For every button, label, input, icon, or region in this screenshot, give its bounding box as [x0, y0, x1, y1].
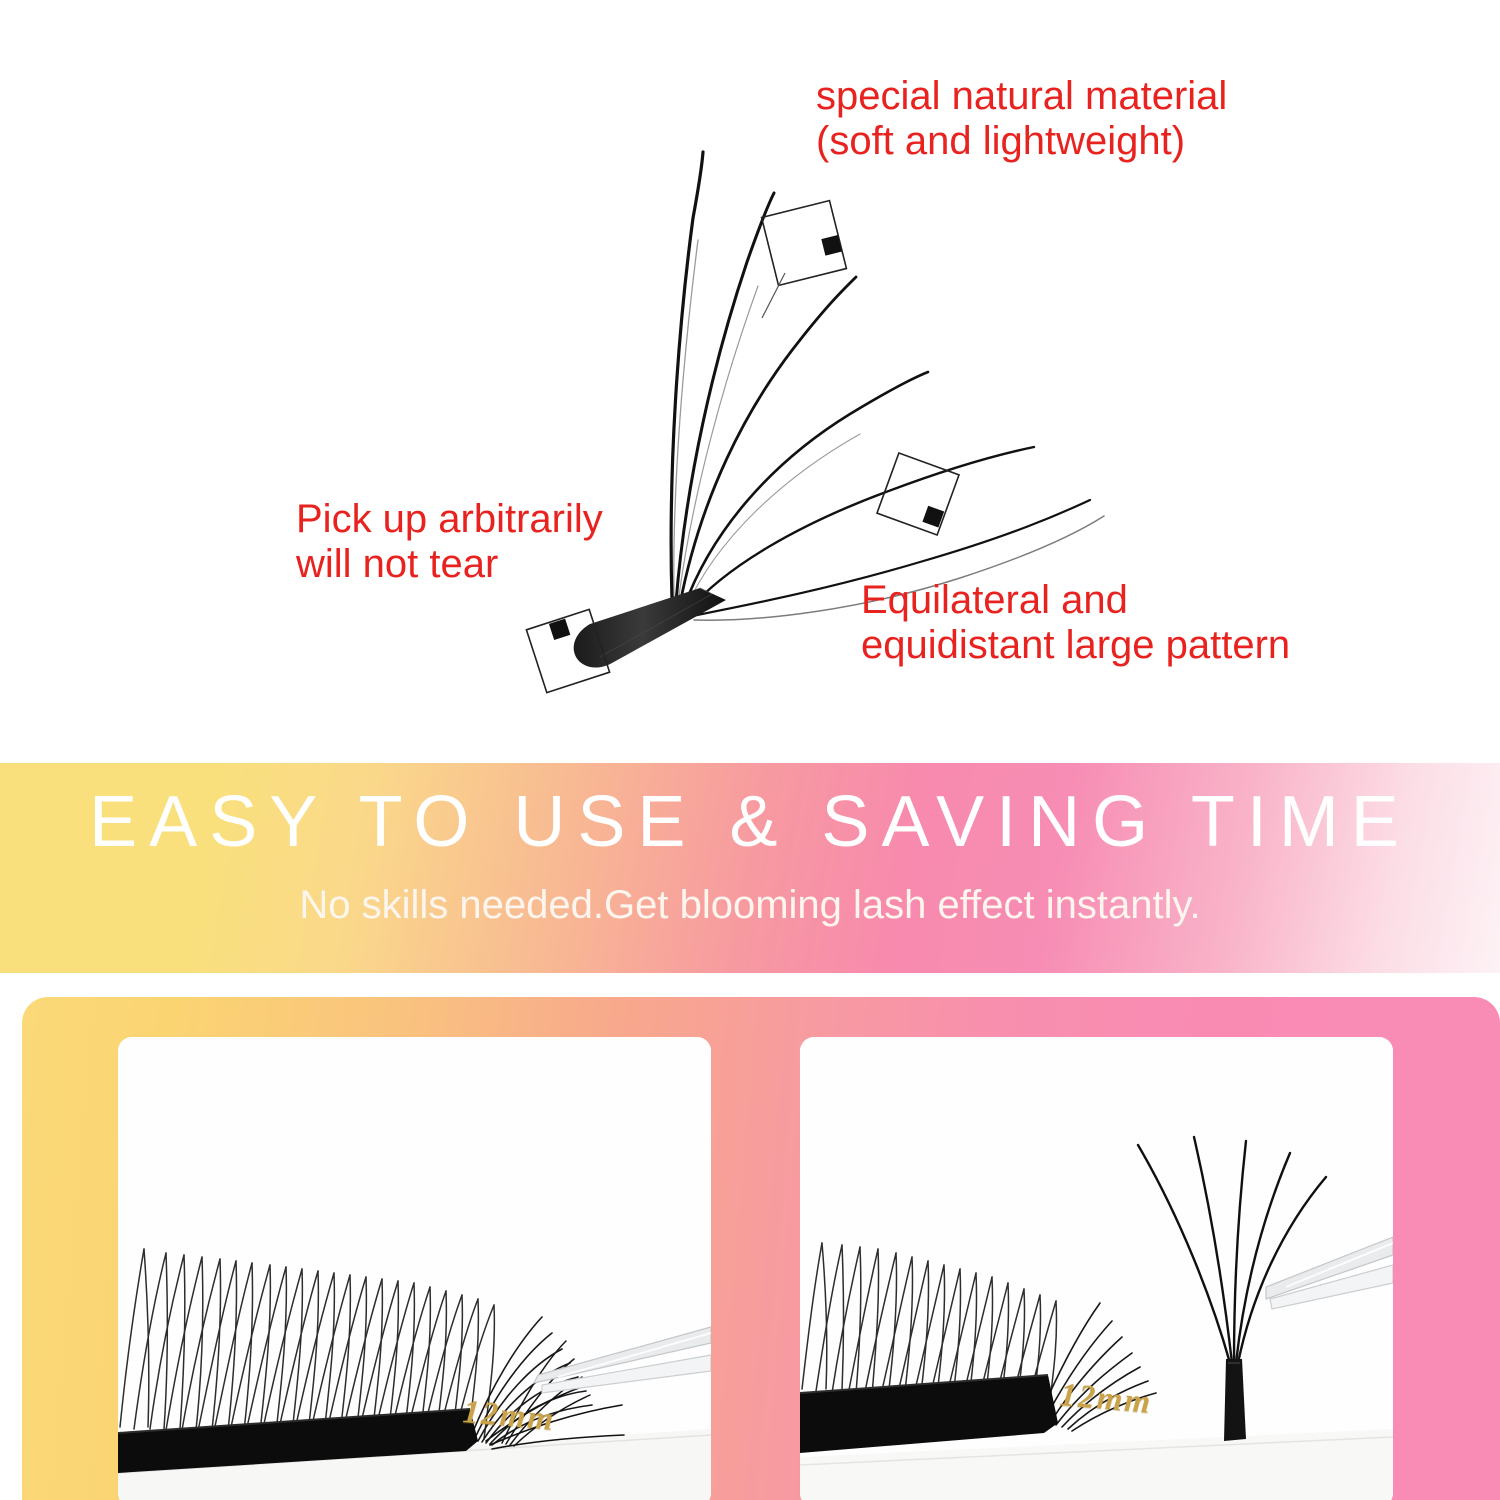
- callout-pick-up-arbitrarily: Pick up arbitrarily will not tear: [296, 497, 603, 587]
- diagram-section: special natural material (soft and light…: [0, 0, 1500, 763]
- lash-base-bar: [574, 588, 726, 668]
- lash-strands: [671, 152, 1104, 620]
- photo-card-left: 12mm: [118, 1037, 711, 1500]
- banner-subtitle: No skills needed.Get blooming lash effec…: [0, 883, 1500, 928]
- photo-card-right: 12mm: [800, 1037, 1393, 1500]
- marker-square-middle: [877, 453, 959, 535]
- callout-equilateral-equidistant: Equilateral and equidistant large patter…: [861, 578, 1290, 668]
- lash-pickup-photo: [800, 1037, 1393, 1500]
- banner-title: EASY TO USE & SAVING TIME: [0, 781, 1500, 863]
- callout-special-natural-material: special natural material (soft and light…: [816, 74, 1227, 164]
- photo-panel: 12mm: [22, 997, 1500, 1500]
- headline-banner: EASY TO USE & SAVING TIME No skills need…: [0, 763, 1500, 973]
- lash-tray-photo: [118, 1037, 711, 1500]
